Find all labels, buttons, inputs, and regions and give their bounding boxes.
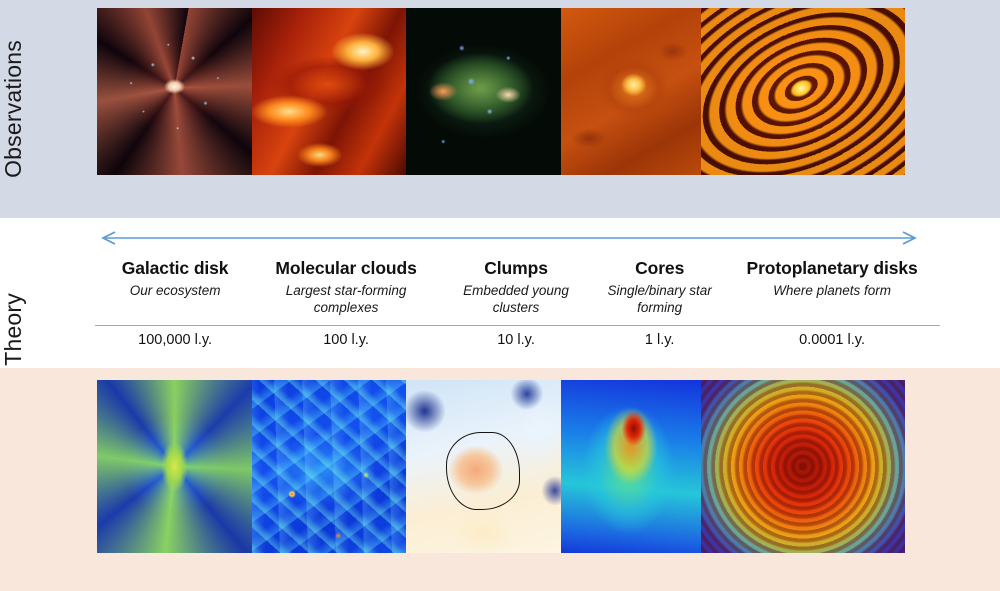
clump-simulation [406, 380, 561, 553]
scale-distance-galactic-disk: 100,000 l.y. [95, 326, 255, 349]
scale-name-clumps: Clumps [437, 258, 595, 279]
scale-name-molecular-clouds: Molecular clouds [255, 258, 437, 279]
scale-desc-molecular-clouds: Largest star-forming complexes [255, 282, 437, 316]
scale-distance-clumps: 10 l.y. [437, 326, 595, 349]
galactic-disk-simulation [97, 380, 252, 553]
core-image [561, 8, 701, 175]
scale-distance-molecular-clouds: 100 l.y. [255, 326, 437, 349]
theory-image-strip [97, 380, 905, 553]
scale-desc-clumps: Embedded young clusters [437, 282, 595, 316]
scale-desc-protoplanetary-disks: Where planets form [724, 282, 940, 299]
scale-desc-galactic-disk: Our ecosystem [95, 282, 255, 299]
scale-distances-row: 100,000 l.y. 100 l.y. 10 l.y. 1 l.y. 0.0… [95, 326, 940, 349]
scale-distance-cores: 1 l.y. [595, 326, 724, 349]
observations-image-strip [97, 8, 905, 175]
scale-arrow-icon [95, 231, 923, 245]
protoplanetary-disk-image [701, 8, 905, 175]
scale-name-protoplanetary-disks: Protoplanetary disks [724, 258, 940, 279]
observations-row-label: Observations [0, 40, 27, 178]
scale-hierarchy-figure: Observations Galactic disk Molecular clo… [0, 0, 1000, 591]
protoplanetary-disk-rings [701, 8, 905, 175]
scale-table: Galactic disk Molecular clouds Clumps Co… [95, 258, 940, 349]
scale-distance-protoplanetary-disks: 0.0001 l.y. [724, 326, 940, 349]
molecular-cloud-simulation [252, 380, 406, 553]
molecular-cloud-image [252, 8, 406, 175]
core-simulation [561, 380, 701, 553]
spiral-galaxy-image [97, 8, 252, 175]
theory-row-label: Theory [0, 293, 27, 366]
clump-image [406, 8, 561, 175]
scale-desc-cores: Single/binary star forming [595, 282, 724, 316]
scale-name-galactic-disk: Galactic disk [95, 258, 255, 279]
scale-names-row: Galactic disk Molecular clouds Clumps Co… [95, 258, 940, 279]
scale-arrow [95, 231, 923, 245]
scale-descriptions-row: Our ecosystem Largest star-forming compl… [95, 280, 940, 322]
scale-name-cores: Cores [595, 258, 724, 279]
protoplanetary-disk-simulation [701, 380, 905, 553]
